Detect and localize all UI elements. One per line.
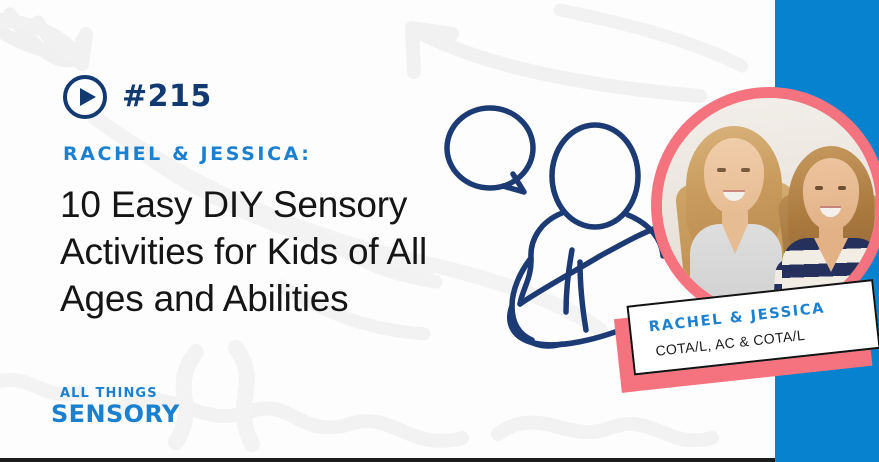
page-title: 10 Easy DIY Sensory Activities for Kids … (60, 182, 530, 323)
bottom-rule-blue-segment (775, 458, 879, 462)
podcast-episode-graphic: #215 RACHEL & JESSICA: 10 Easy DIY Senso… (0, 0, 879, 462)
figure-detail-line-2 (566, 250, 572, 312)
brand-logo-top-line: ALL THINGS (60, 387, 180, 400)
photo-image (662, 98, 876, 312)
episode-number: #215 (122, 82, 212, 112)
text-column: #215 RACHEL & JESSICA: 10 Easy DIY Senso… (0, 0, 560, 462)
play-circle-icon[interactable] (62, 74, 108, 120)
figure-head (552, 125, 638, 227)
episode-row: #215 (62, 74, 212, 120)
bottom-rule (0, 458, 879, 462)
figure-detail-line (580, 262, 586, 330)
brand-logo-bottom-line: SENSORY (51, 402, 180, 426)
brand-logo: ALL THINGS SENSORY (51, 387, 180, 426)
hosts-eyebrow: RACHEL & JESSICA: (63, 143, 312, 165)
title-line-3: Ages and Abilities (60, 276, 530, 323)
title-line-2: Activities for Kids of All (60, 229, 530, 276)
title-line-1: 10 Easy DIY Sensory (60, 182, 530, 229)
